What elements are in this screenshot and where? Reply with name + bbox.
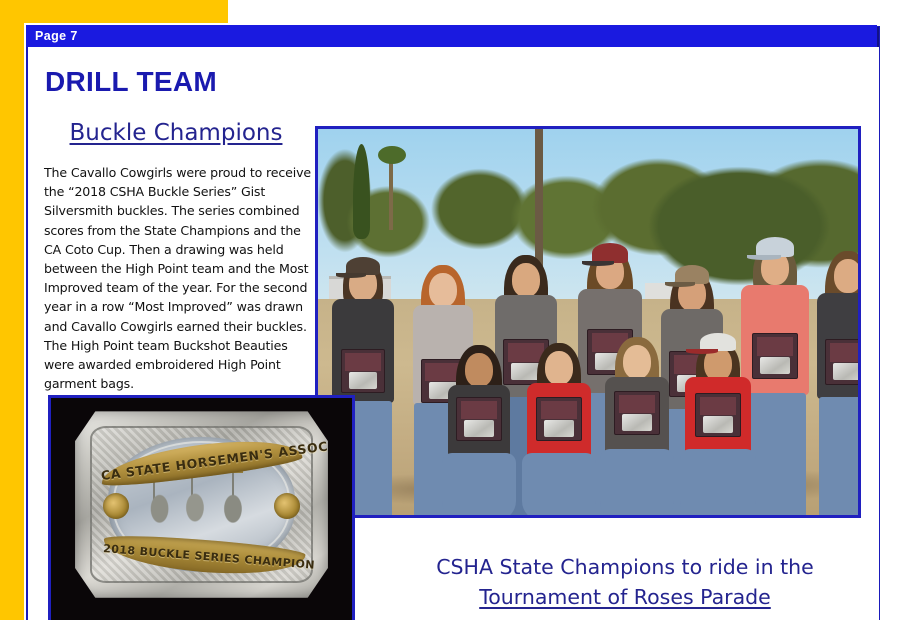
yellow-side-rail [0,0,24,620]
jeans [819,397,858,515]
buckle-body: CA STATE HORSEMEN'S ASSOC 2018 BUCKLE SE… [75,411,328,597]
page-title: DRILL TEAM [45,66,217,98]
buckle-in-case [760,357,790,375]
team-photo [315,126,861,518]
buckle-in-case [464,420,494,437]
person-front-3 [594,335,680,515]
buckle-in-case [833,363,858,381]
article-body: The Cavallo Cowgirls were proud to recei… [44,163,316,393]
head [834,259,858,293]
buckle-in-case [622,414,652,431]
person-front-4 [674,331,762,515]
cap-brim [686,349,718,354]
cap [756,237,794,257]
case-lid [830,343,858,362]
newsletter-page: Page 7 DRILL TEAM Buckle Champions The C… [0,0,899,620]
cap-brim [665,282,695,287]
belt-buckle-photo: CA STATE HORSEMEN'S ASSOC 2018 BUCKLE SE… [48,395,355,620]
article-subtitle: Buckle Champions [38,120,314,146]
person-front-2 [516,339,602,515]
jeans-kneeling [442,453,516,515]
buckle-case [695,393,741,437]
buckle-case [825,339,858,385]
jeans-kneeling [680,449,756,515]
person-back-7 [810,241,858,515]
case-lid [345,353,380,371]
caption-line-2: Tournament of Roses Parade [380,582,870,612]
head [623,345,651,379]
head [429,273,457,307]
buckle-in-case [703,416,733,433]
head [512,263,540,297]
article-paragraph: The Cavallo Cowgirls were proud to recei… [44,163,316,393]
buckle-case [614,391,660,435]
buckle-in-case [544,420,574,437]
case-lid [757,337,794,356]
person-front-1 [436,341,522,515]
yellow-corner-block [0,0,228,23]
team-photo-scene [318,129,858,515]
cap-brim [747,255,781,260]
buckle-case [456,397,502,441]
photo-caption: CSHA State Champions to ride in the Tour… [380,552,870,612]
case-lid [619,395,656,413]
buckle-case [341,349,385,393]
jeans-kneeling [600,449,674,515]
cap [592,243,628,263]
jeans-kneeling [522,453,596,515]
caption-line-1: CSHA State Champions to ride in the [380,552,870,582]
cap-brim [582,261,614,266]
head [545,351,573,385]
case-lid [541,401,578,419]
page-number-label: Page 7 [26,25,877,47]
head [465,353,493,387]
case-lid [461,401,498,419]
case-lid [700,397,737,415]
buckle-in-case [349,372,378,389]
page-header-bar: Page 7 [26,25,877,47]
buckle-case [536,397,582,441]
cap-brim [336,273,366,278]
